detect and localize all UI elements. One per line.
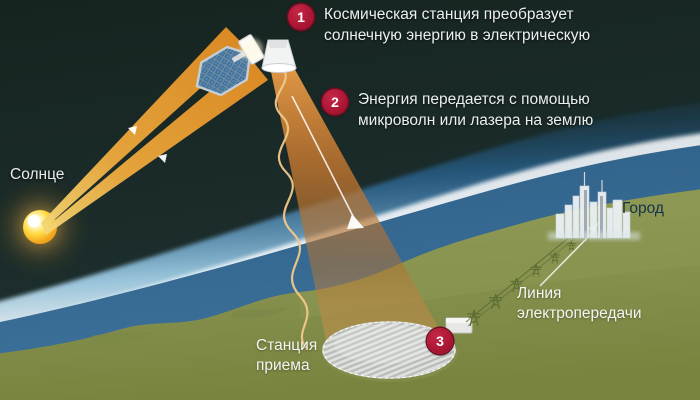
label-station-line-2: приема <box>256 356 317 376</box>
step-marker-3: 3 <box>427 328 453 354</box>
callout-1-line-2: солнечную энергию в электрическую <box>324 25 590 46</box>
diagram-illustration <box>0 0 700 400</box>
callout-1-text: Космическая станция преобразует солнечну… <box>324 4 590 46</box>
label-power-line-2: электропередачи <box>517 304 642 324</box>
callout-2-line-2: микроволн или лазера на землю <box>358 110 593 131</box>
label-sun: Солнце <box>10 165 64 185</box>
label-power-line: Линия электропередачи <box>517 284 642 324</box>
callout-step-1: 1 Космическая станция преобразует солнеч… <box>288 4 590 46</box>
callout-2-line-1: Энергия передается с помощью <box>358 89 593 110</box>
step-marker-1: 1 <box>288 4 314 30</box>
callout-2-text: Энергия передается с помощью микроволн и… <box>358 89 593 131</box>
step-marker-2: 2 <box>322 89 348 115</box>
label-power-line-1: Линия <box>517 284 642 304</box>
callout-step-2: 2 Энергия передается с помощью микроволн… <box>322 89 593 131</box>
callout-1-line-1: Космическая станция преобразует <box>324 4 590 25</box>
label-receiving-station: Станция приема <box>256 336 317 376</box>
label-station-line-1: Станция <box>256 336 317 356</box>
label-city: Город <box>622 199 664 219</box>
diagram-canvas: 1 Космическая станция преобразует солнеч… <box>0 0 700 400</box>
